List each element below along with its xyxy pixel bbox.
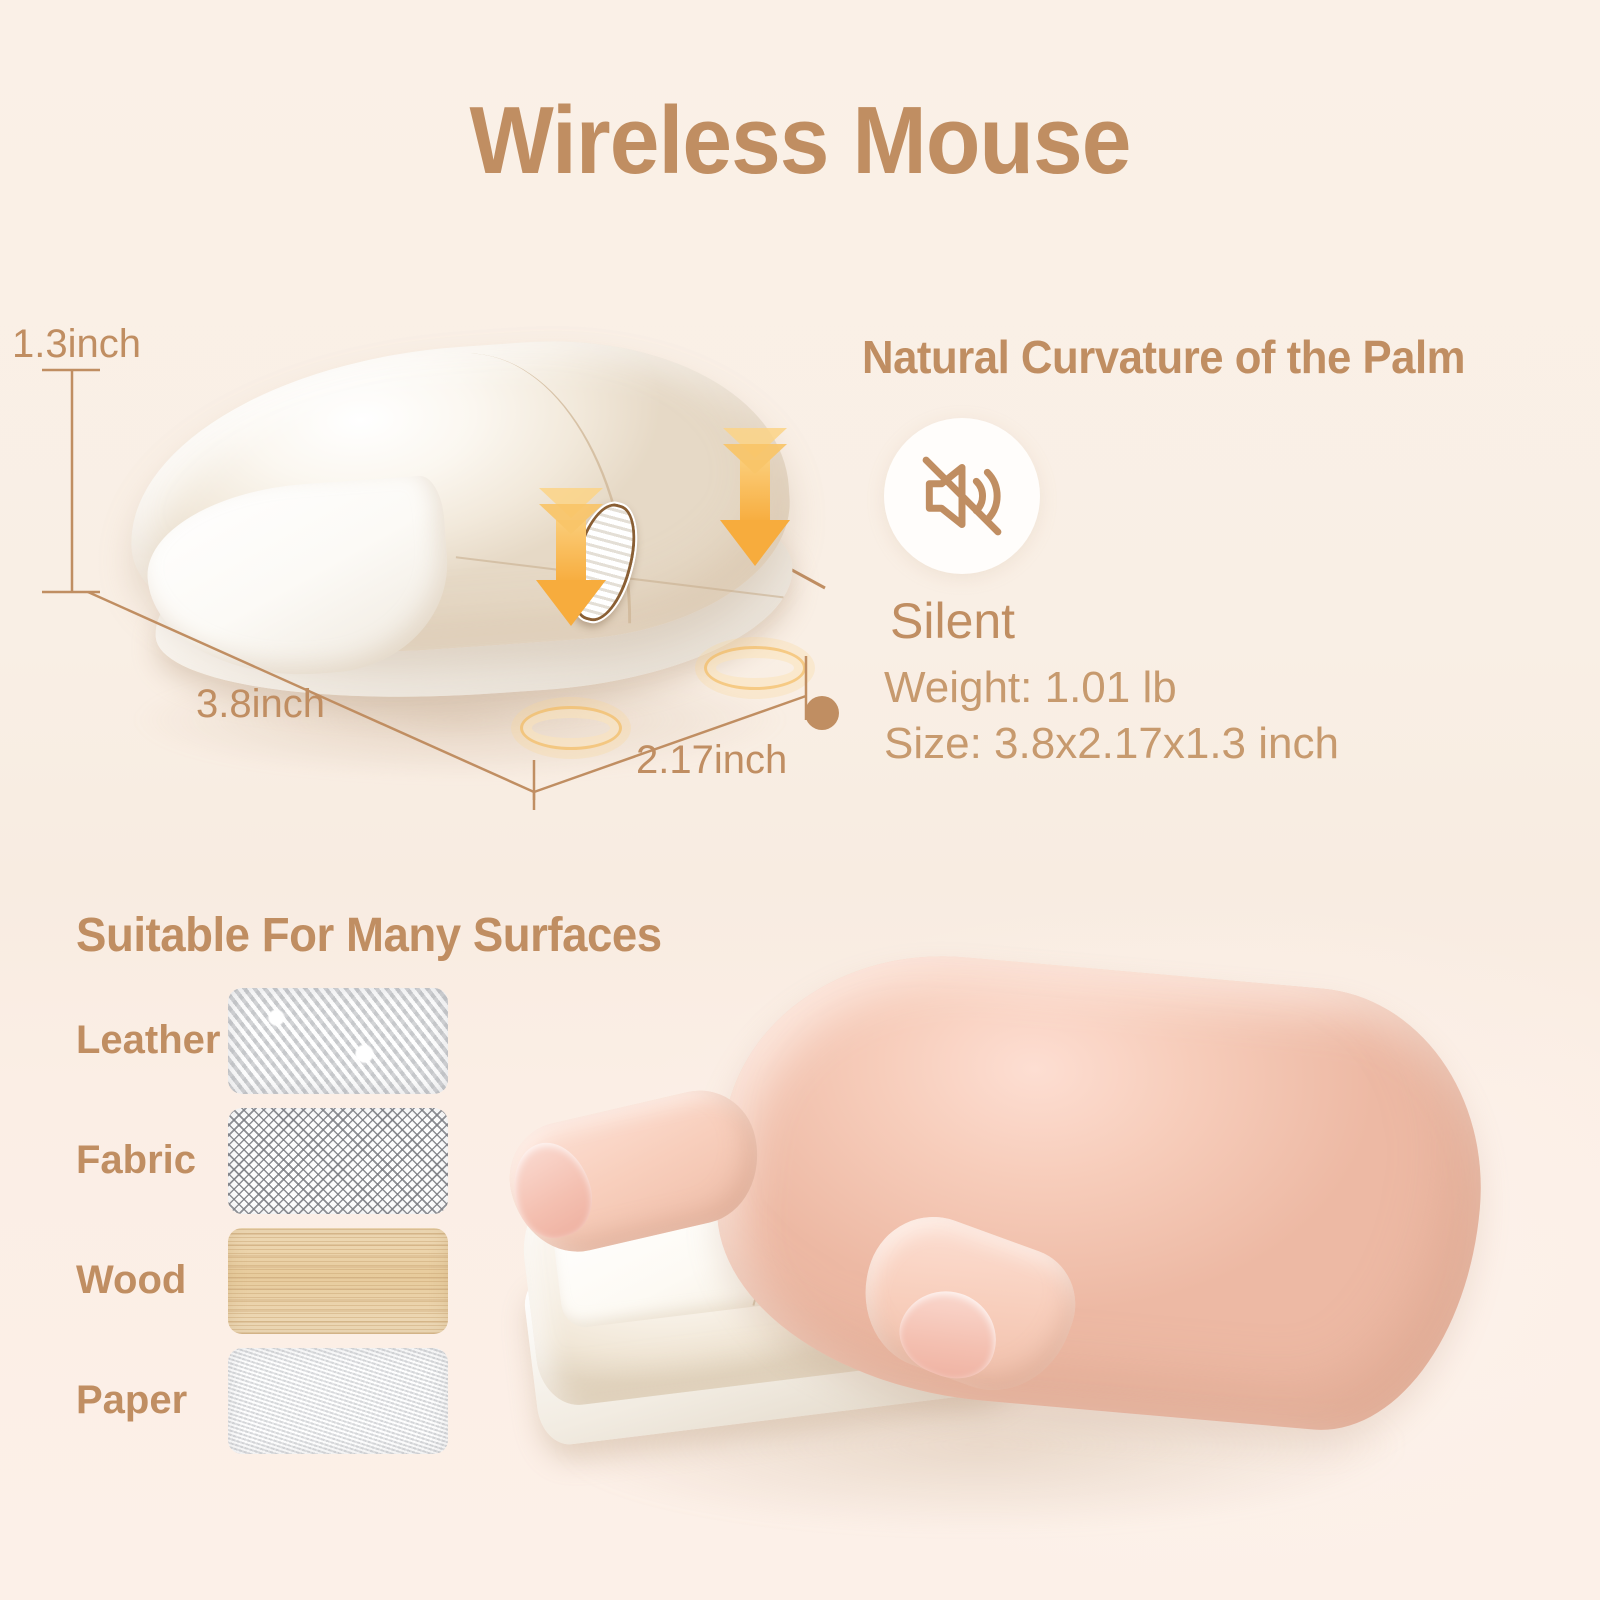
wood-swatch	[228, 1228, 448, 1334]
feature-panel: Natural Curvature of the Palm Silent Wei…	[862, 330, 1582, 384]
feature-title: Natural Curvature of the Palm	[862, 330, 1546, 384]
product-infographic: Wireless Mouse	[0, 0, 1600, 1600]
dimension-label-width: 2.17inch	[636, 738, 787, 783]
surface-label: Fabric	[76, 1138, 226, 1183]
paper-swatch	[228, 1348, 448, 1454]
silent-label: Silent	[890, 592, 1015, 650]
surface-label: Paper	[76, 1378, 226, 1423]
spec-list: Weight: 1.01 lb Size: 3.8x2.17x1.3 inch	[884, 660, 1339, 773]
fabric-swatch	[228, 1108, 448, 1214]
dimension-lines	[0, 200, 860, 820]
page-title: Wireless Mouse	[56, 86, 1544, 196]
hand-using-mouse-photo	[470, 930, 1600, 1600]
surface-label: Wood	[76, 1258, 226, 1303]
dimension-label-height: 1.3inch	[12, 322, 141, 367]
leather-swatch	[228, 988, 448, 1094]
spec-size: Size: 3.8x2.17x1.3 inch	[884, 716, 1339, 772]
surface-label: Leather	[76, 1018, 226, 1063]
dimension-label-length: 3.8inch	[196, 682, 325, 727]
silent-badge	[884, 418, 1040, 574]
mute-speaker-icon	[913, 447, 1011, 545]
spec-weight: Weight: 1.01 lb	[884, 660, 1339, 716]
product-dimension-scene: 1.3inch 3.8inch 2.17inch	[0, 200, 860, 820]
